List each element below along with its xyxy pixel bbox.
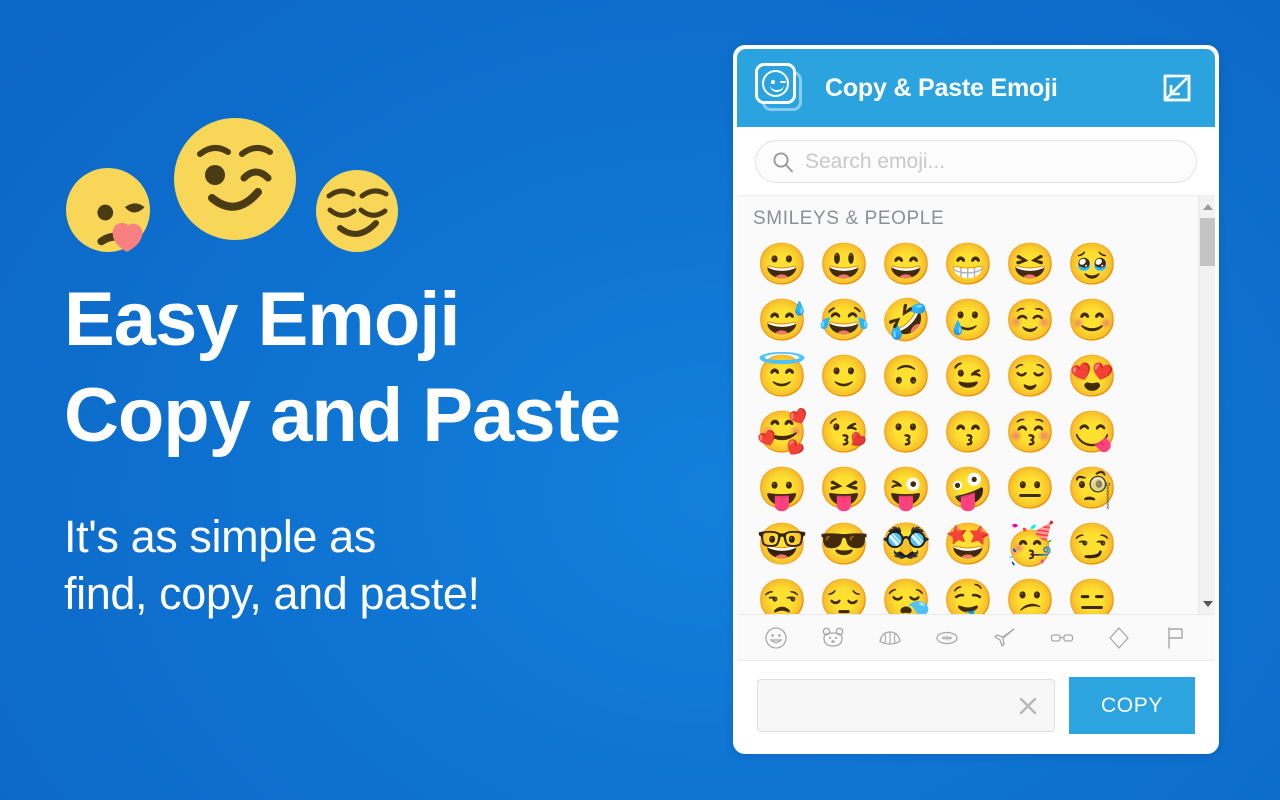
scroll-up-arrow-icon[interactable] xyxy=(1199,198,1215,215)
emoji-cell[interactable]: 😘 xyxy=(813,404,875,460)
panel-title: Copy & Paste Emoji xyxy=(825,74,1161,103)
emoji-cell[interactable]: 🤪 xyxy=(937,460,999,516)
hero-decor-emojis xyxy=(62,118,422,243)
hero-section: Easy Emoji Copy and Paste It's as simple… xyxy=(0,0,720,800)
emoji-cell[interactable]: 🤩 xyxy=(937,516,999,572)
emoji-scroll-region: SMILEYS & PEOPLE 😀😃😄😁😆🥹😅😂🤣🥲☺️😊😇🙂🙃😉😌😍🥰😘😗😙… xyxy=(737,195,1215,614)
emoji-cell[interactable]: 😙 xyxy=(937,404,999,460)
emoji-cell[interactable]: 😄 xyxy=(875,236,937,292)
emoji-cell[interactable]: 🥲 xyxy=(937,292,999,348)
emoji-cell[interactable]: 😊 xyxy=(1061,292,1123,348)
copy-button[interactable]: COPY xyxy=(1069,677,1195,734)
emoji-cell[interactable]: 😔 xyxy=(813,572,875,614)
emoji-cell[interactable]: 😇 xyxy=(751,348,813,404)
search-icon xyxy=(772,151,794,173)
emoji-cell[interactable]: 😝 xyxy=(813,460,875,516)
kissing-heart-emoji xyxy=(66,168,150,252)
emoji-cell[interactable]: 😚 xyxy=(999,404,1061,460)
emoji-cell[interactable]: 😋 xyxy=(1061,404,1123,460)
emoji-app-panel: Copy & Paste Emoji xyxy=(733,45,1219,754)
stacked-smiley-logo-icon xyxy=(755,62,807,114)
tab-objects[interactable] xyxy=(1045,621,1079,655)
emoji-cell[interactable]: 😐 xyxy=(999,460,1061,516)
emoji-cell[interactable]: 😗 xyxy=(875,404,937,460)
panel-header: Copy & Paste Emoji xyxy=(737,49,1215,127)
emoji-cell[interactable]: 😒 xyxy=(751,572,813,614)
emoji-cell[interactable]: 🥸 xyxy=(875,516,937,572)
emoji-cell[interactable]: 😉 xyxy=(937,348,999,404)
emoji-cell[interactable]: 😍 xyxy=(1061,348,1123,404)
emoji-cell[interactable]: 😛 xyxy=(751,460,813,516)
category-tab-bar xyxy=(737,614,1215,660)
emoji-cell[interactable]: 😀 xyxy=(751,236,813,292)
emoji-cell[interactable]: 😏 xyxy=(1061,516,1123,572)
smirking-emoji xyxy=(316,170,398,252)
emoji-cell[interactable]: 🙃 xyxy=(875,348,937,404)
emoji-cell[interactable]: 😆 xyxy=(999,236,1061,292)
tab-travel-places[interactable] xyxy=(988,621,1022,655)
selected-emoji-field[interactable] xyxy=(757,679,1055,732)
emoji-cell[interactable]: 🙂 xyxy=(813,348,875,404)
emoji-cell[interactable]: 😎 xyxy=(813,516,875,572)
emoji-cell[interactable]: 😕 xyxy=(999,572,1061,614)
page-headline: Easy Emoji Copy and Paste xyxy=(64,272,620,464)
scroll-thumb[interactable] xyxy=(1200,218,1215,266)
emoji-cell[interactable]: 😌 xyxy=(999,348,1061,404)
emoji-cell[interactable]: 😑 xyxy=(1061,572,1123,614)
search-zone xyxy=(737,127,1215,195)
open-in-window-icon[interactable] xyxy=(1161,72,1193,104)
emoji-grid: 😀😃😄😁😆🥹😅😂🤣🥲☺️😊😇🙂🙃😉😌😍🥰😘😗😙😚😋😛😝😜🤪😐🧐🤓😎🥸🤩🥳😏😒😔😪… xyxy=(751,236,1198,614)
emoji-cell[interactable]: 🤣 xyxy=(875,292,937,348)
emoji-scrollbar[interactable] xyxy=(1198,196,1215,614)
emoji-cell[interactable]: 😂 xyxy=(813,292,875,348)
tab-smileys-people[interactable] xyxy=(759,621,793,655)
clear-x-icon[interactable] xyxy=(1014,692,1042,720)
emoji-cell[interactable]: ☺️ xyxy=(999,292,1061,348)
category-heading: SMILEYS & PEOPLE xyxy=(753,208,1198,230)
emoji-cell[interactable]: 🧐 xyxy=(1061,460,1123,516)
tab-flags[interactable] xyxy=(1159,621,1193,655)
emoji-cell[interactable]: 😁 xyxy=(937,236,999,292)
emoji-cell[interactable]: 😃 xyxy=(813,236,875,292)
emoji-cell[interactable]: 🥹 xyxy=(1061,236,1123,292)
emoji-cell[interactable]: 😅 xyxy=(751,292,813,348)
emoji-list: SMILEYS & PEOPLE 😀😃😄😁😆🥹😅😂🤣🥲☺️😊😇🙂🙃😉😌😍🥰😘😗😙… xyxy=(737,196,1198,614)
emoji-cell[interactable]: 🤤 xyxy=(937,572,999,614)
winking-emoji xyxy=(174,118,296,240)
search-input[interactable] xyxy=(805,150,1180,174)
page-subheadline: It's as simple as find, copy, and paste! xyxy=(64,508,480,622)
tab-symbols[interactable] xyxy=(1102,621,1136,655)
output-bar: COPY xyxy=(737,660,1215,750)
emoji-cell[interactable]: 🥳 xyxy=(999,516,1061,572)
emoji-cell[interactable]: 🥰 xyxy=(751,404,813,460)
emoji-cell[interactable]: 😜 xyxy=(875,460,937,516)
scroll-down-arrow-icon[interactable] xyxy=(1199,595,1215,612)
emoji-cell[interactable]: 🤓 xyxy=(751,516,813,572)
tab-activity[interactable] xyxy=(930,621,964,655)
emoji-cell[interactable]: 😪 xyxy=(875,572,937,614)
search-box[interactable] xyxy=(755,140,1197,183)
tab-animals-nature[interactable] xyxy=(816,621,850,655)
tab-food-drink[interactable] xyxy=(873,621,907,655)
